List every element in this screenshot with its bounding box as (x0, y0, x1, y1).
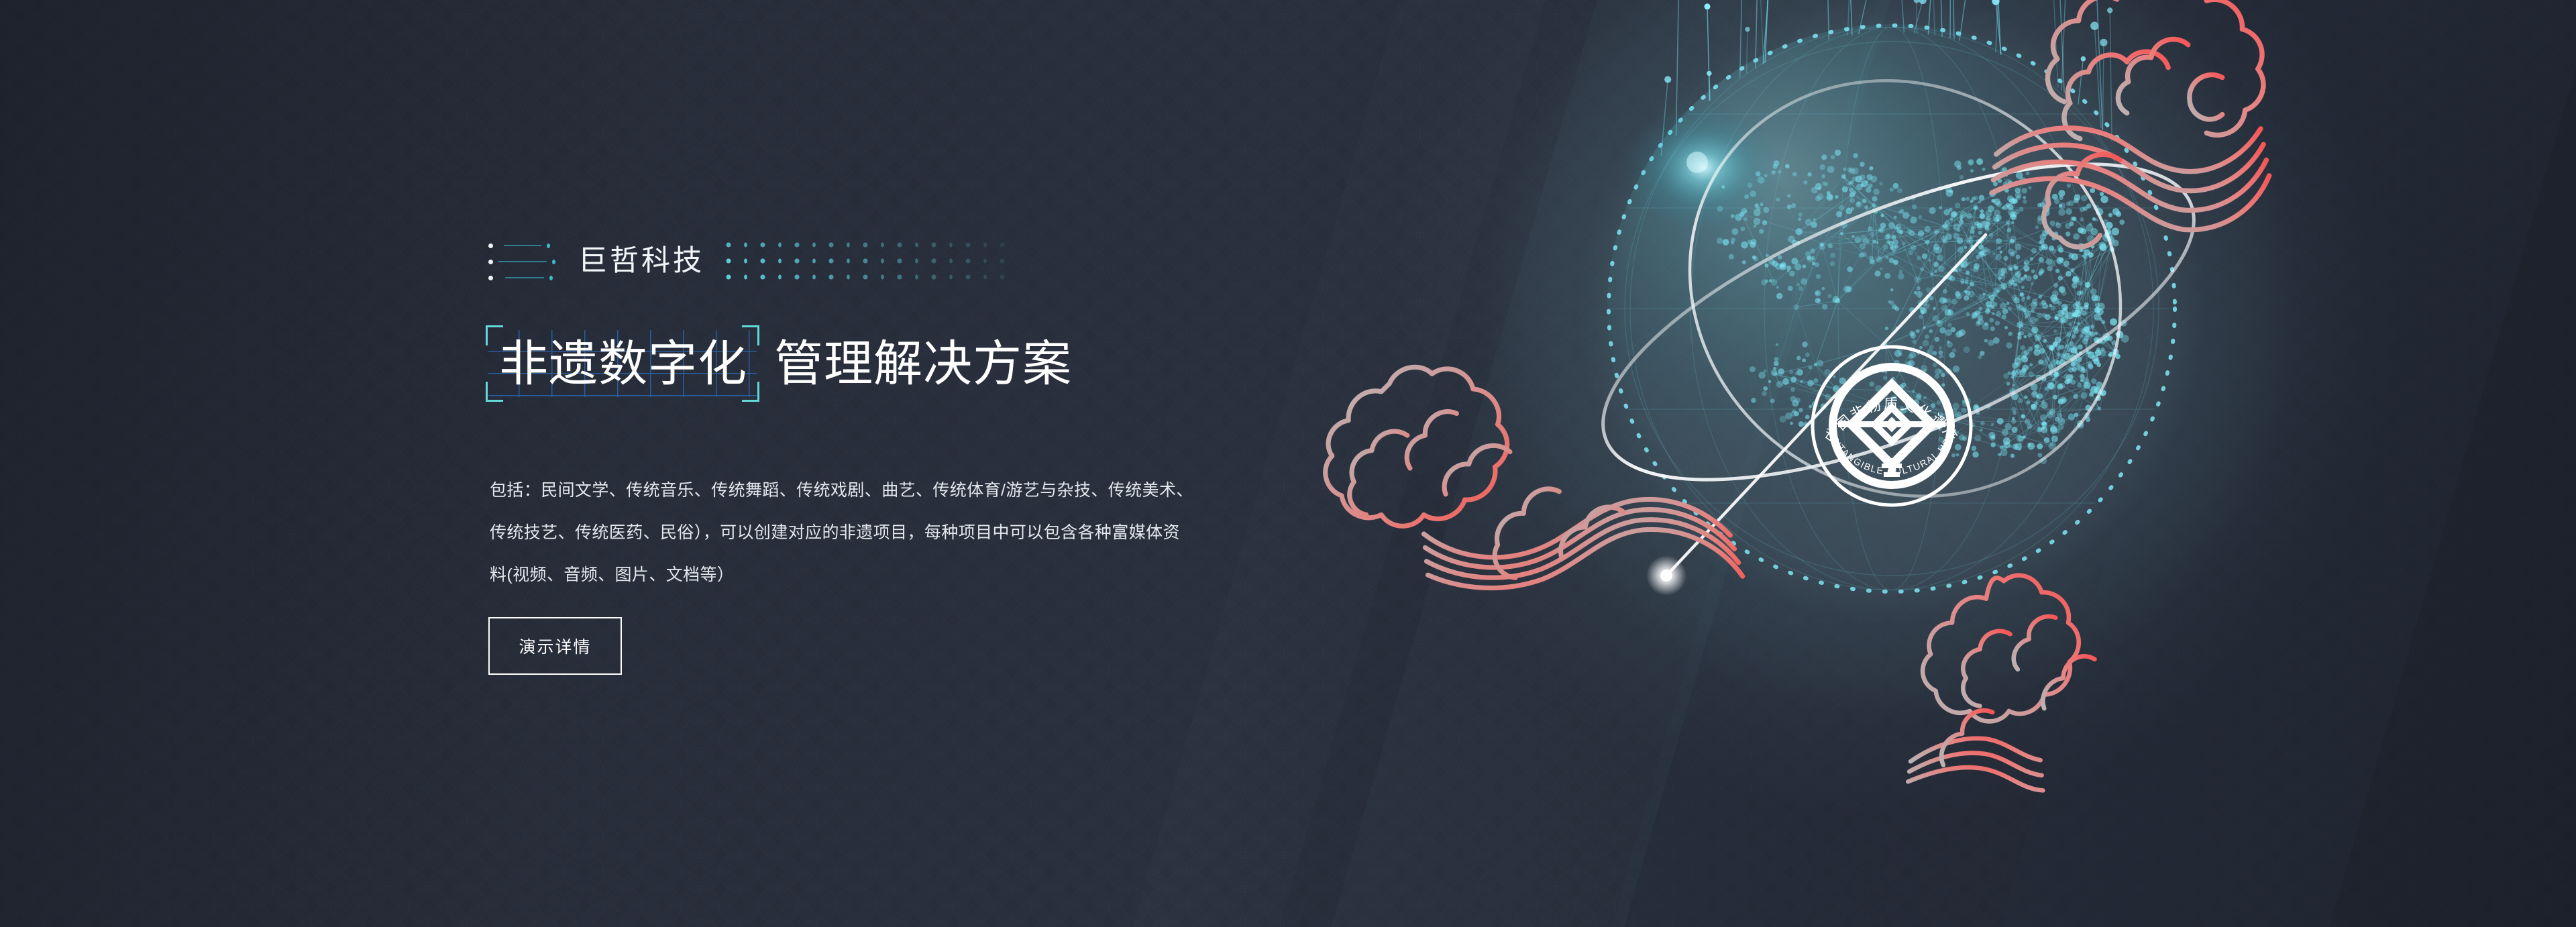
description-text: 包括：民间文学、传统音乐、传统舞蹈、传统戏剧、曲艺、传统体育/游艺与杂技、传统美… (490, 470, 1194, 596)
deco-dot-white (488, 243, 493, 248)
headline-highlight-text: 非遗数字化 (499, 339, 747, 388)
demo-details-button[interactable]: 演示详情 (488, 617, 622, 675)
deco-dot-white (488, 276, 493, 280)
headline-rest-text: 管理解决方案 (774, 339, 1072, 388)
deco-line-row (488, 243, 550, 248)
deco-bar-teal (504, 245, 541, 246)
brand-name: 巨哲科技 (578, 247, 704, 276)
hero-content: 巨哲科技 非遗数字化 管理解决方案 包括：民间文学、传统音乐、传统舞蹈、传统戏剧… (488, 0, 1280, 927)
deco-dot-cyan (547, 243, 550, 248)
deco-line-row (488, 275, 553, 280)
deco-line-row (488, 259, 555, 264)
brand-row: 巨哲科技 (488, 230, 1014, 292)
seigaiha-background-pattern (0, 0, 2576, 927)
hero-banner: 中国非物质文化遗产 CHINA INTANGIBLE CULTURAL HERI… (0, 0, 2576, 927)
deco-dot-white (488, 260, 493, 264)
page-title: 非遗数字化 管理解决方案 (488, 327, 1072, 400)
fading-dot-grid-decoration-icon (724, 236, 1014, 286)
stacked-dash-decoration-icon (488, 230, 561, 292)
deco-dot-cyan (552, 260, 555, 264)
deco-dot-cyan (549, 276, 553, 280)
deco-bar-teal (498, 261, 547, 262)
deco-bar-teal (505, 277, 544, 278)
headline-highlight-box: 非遗数字化 (488, 327, 757, 400)
